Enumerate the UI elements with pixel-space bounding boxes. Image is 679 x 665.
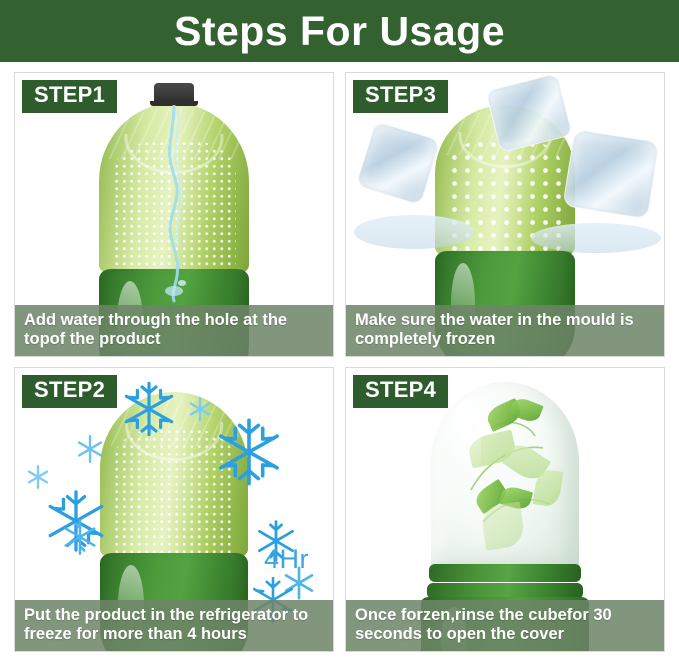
snowflake-icon — [120, 380, 178, 438]
steps-for-usage-infographic: Steps For Usage — [0, 0, 679, 665]
snowflake-icon — [59, 516, 101, 558]
step-badge: STEP4 — [353, 375, 448, 408]
ice-splash — [531, 223, 661, 253]
page-title: Steps For Usage — [174, 11, 505, 52]
ice-splash — [354, 215, 474, 249]
step-badge: STEP3 — [353, 80, 448, 113]
snowflake-icon — [73, 432, 107, 466]
step-caption: Make sure the water in the mould is comp… — [346, 305, 664, 356]
step-badge: STEP2 — [22, 375, 117, 408]
step-caption: Put the product in the refrigerator to f… — [15, 600, 333, 651]
snowflake-icon — [185, 394, 215, 424]
step-panel-3: STEP3 Make sure the water in the mould i… — [345, 72, 665, 357]
steps-grid: STEP1 Add water through the hole at the … — [14, 72, 665, 652]
step-badge: STEP1 — [22, 80, 117, 113]
plug-icon — [154, 83, 194, 102]
step-panel-2: 4Hr STEP2 Put the product in the refrige… — [14, 367, 334, 652]
duration-label: 4Hr — [264, 544, 309, 575]
cover-ring-upper — [429, 564, 581, 582]
ice-cube-icon — [562, 129, 659, 219]
step-caption: Once forzen,rinse the cubefor 30 seconds… — [346, 600, 664, 651]
step-panel-1: STEP1 Add water through the hole at the … — [14, 72, 334, 357]
step-panel-4: STEP4 Once forzen,rinse the cubefor 30 s… — [345, 367, 665, 652]
header-banner: Steps For Usage — [0, 0, 679, 62]
water-stream-icon — [152, 105, 196, 305]
snowflake-icon — [23, 462, 53, 492]
ice-cube-icon — [356, 121, 441, 206]
step-caption: Add water through the hole at the topof … — [15, 305, 333, 356]
ice-dome — [431, 382, 579, 572]
snowflake-icon — [213, 416, 285, 488]
